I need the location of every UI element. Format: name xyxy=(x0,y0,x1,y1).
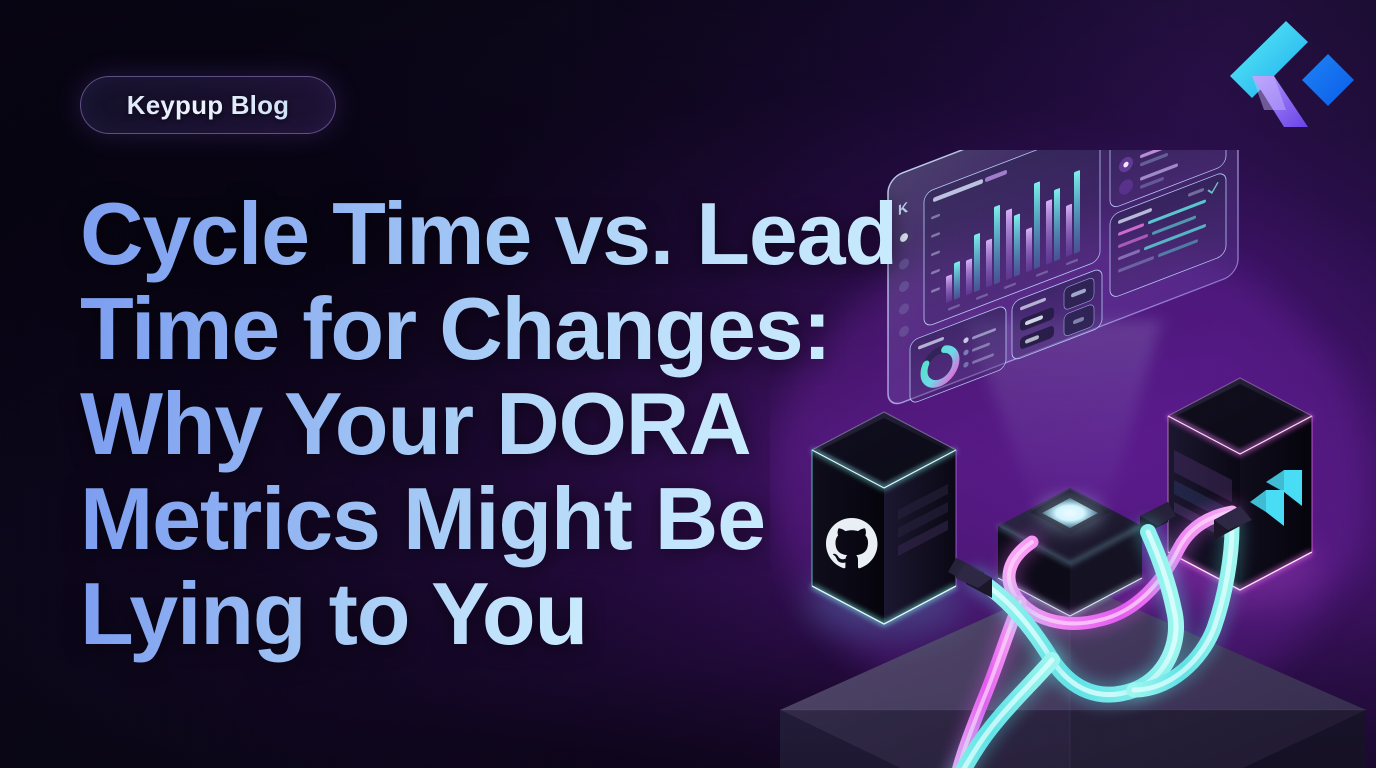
headline-line-3: Why Your DORA xyxy=(80,376,870,471)
headline-line-1-text: Cycle Time vs. Lead xyxy=(80,184,897,283)
keypup-logo[interactable] xyxy=(1208,14,1360,134)
hero-banner: K xyxy=(0,0,1376,768)
headline-line-2: Time for Changes: xyxy=(80,281,870,376)
headline-line-4: Metrics Might Be xyxy=(80,471,870,566)
headline-line-3-text: Why Your DORA xyxy=(80,374,750,473)
keypup-blog-badge-label: Keypup Blog xyxy=(127,90,290,121)
headline-line-5-text: Lying to You xyxy=(80,564,587,663)
headline-line-2-text: Time for Changes: xyxy=(80,279,831,378)
keypup-blog-badge[interactable]: Keypup Blog xyxy=(80,76,336,134)
headline-line-5: Lying to You xyxy=(80,566,870,661)
headline-line-1: Cycle Time vs. Lead xyxy=(80,186,870,281)
headline-line-4-text: Metrics Might Be xyxy=(80,469,765,568)
page-title: Cycle Time vs. Lead Time for Changes: Wh… xyxy=(80,186,870,661)
logo-diamond xyxy=(1302,54,1354,106)
